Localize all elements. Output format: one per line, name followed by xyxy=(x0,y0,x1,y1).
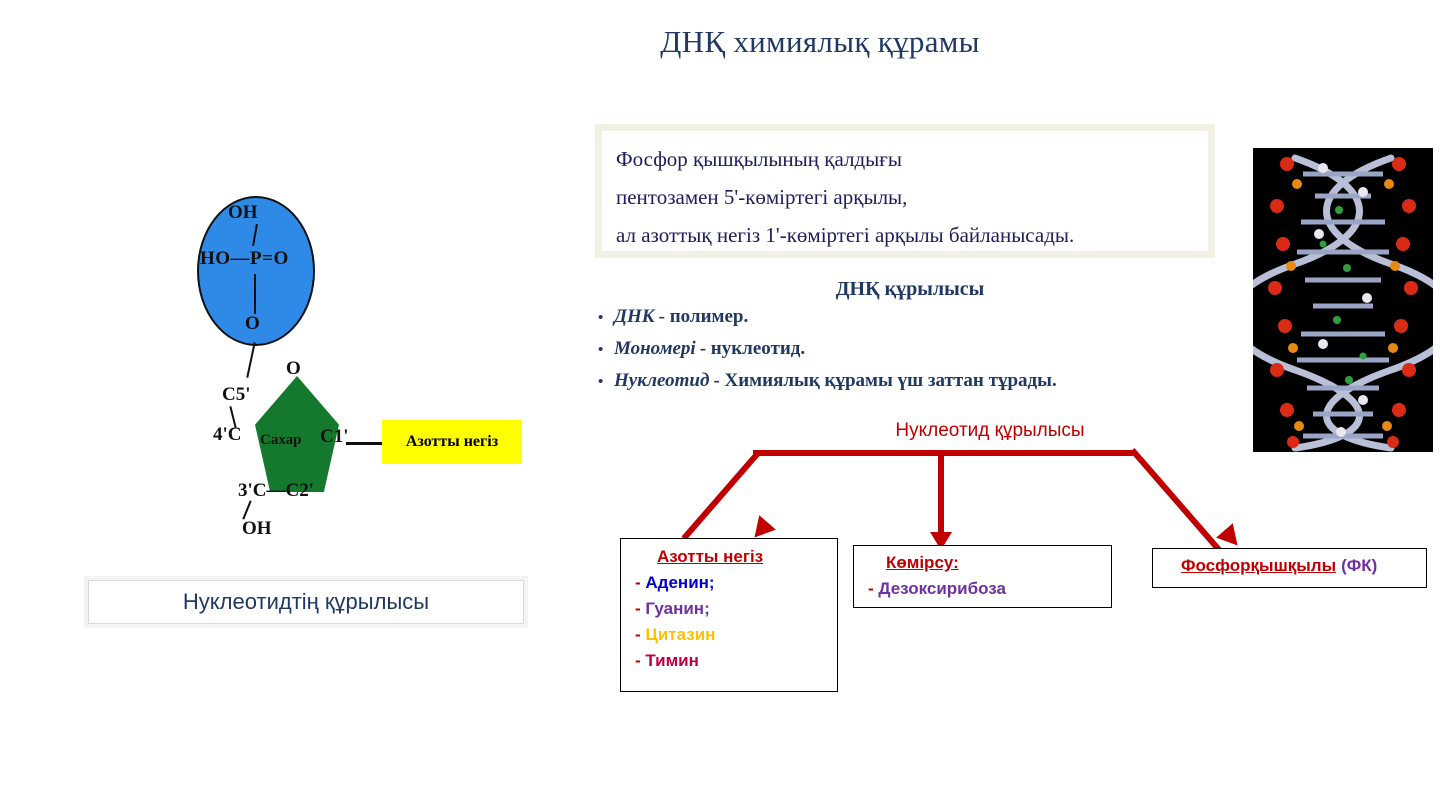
label-c1: C1' xyxy=(320,426,349,448)
item-label: Дезоксирибоза xyxy=(878,579,1006,598)
bond-c3-hydroxyl xyxy=(242,500,251,519)
phosphate-info-box: Фосфор қышқылының қалдығы пентозамен 5'-… xyxy=(595,124,1215,258)
bullet-dot-icon: • xyxy=(598,374,614,391)
item-marker: - xyxy=(635,599,641,618)
item-marker: - xyxy=(635,651,641,670)
list-item: - Цитазин xyxy=(635,622,837,648)
box-heading: Көмірсу: xyxy=(886,553,959,573)
label-c3-c2: 3'C—C2' xyxy=(238,480,314,502)
arrow-arm-middle xyxy=(938,452,944,540)
nucleotide-structure-arrow-tree: Нуклеотид құрылысы xyxy=(600,420,1440,550)
bullet-text: - нуклеотид. xyxy=(700,338,805,360)
item-label: Цитазин xyxy=(645,625,715,644)
nucleotide-caption: Нуклеотидтің құрылысы xyxy=(88,580,524,624)
bullet-dot-icon: • xyxy=(598,310,614,327)
slide-canvas: ДНҚ химиялық құрамы OH HO—P=O O O C5' 4'… xyxy=(0,0,1440,810)
item-marker: - xyxy=(635,573,641,592)
list-item: - Аденин; xyxy=(635,570,837,596)
item-label: Гуанин; xyxy=(645,599,709,618)
bullet-term: ДНК xyxy=(614,306,655,328)
page-title: ДНҚ химиялық құрамы xyxy=(520,24,1120,60)
list-item: - Тимин xyxy=(635,648,837,674)
arrow-tree-label: Нуклеотид құрылысы xyxy=(780,420,1200,442)
box-heading-suffix: (ФК) xyxy=(1341,556,1377,575)
bullet-term: Нуклеотид xyxy=(614,370,709,392)
dna-helix-image xyxy=(1253,148,1433,452)
item-label: Тимин xyxy=(645,651,698,670)
info-line-2: пентозамен 5'-көміртегі арқылы, xyxy=(616,178,1208,216)
list-item: - Гуанин; xyxy=(635,596,837,622)
info-line-1: Фосфор қышқылының қалдығы xyxy=(616,140,1208,178)
list-item: • ДНК - полимер. xyxy=(598,306,1238,338)
bullet-text: - Химиялық құрамы үш заттан тұрады. xyxy=(713,370,1056,392)
nucleotide-diagram: OH HO—P=O O O C5' 4'C Сахар C1' 3'C—C2' … xyxy=(150,180,550,560)
dna-helix-icon xyxy=(1253,148,1433,452)
box-heading: Фосфорқышқылы xyxy=(1181,556,1336,576)
label-c4: 4'C xyxy=(213,424,242,446)
bullet-dot-icon: • xyxy=(598,342,614,359)
label-o-ring: O xyxy=(286,358,301,380)
box-heading: Азотты негіз xyxy=(657,547,763,567)
structure-bullet-list: • ДНК - полимер. • Мономері - нуклеотид.… xyxy=(598,306,1238,402)
list-item: - Дезоксирибоза xyxy=(868,576,1111,602)
label-ho-p-o: HO—P=O xyxy=(200,248,289,270)
label-sugar: Сахар xyxy=(260,432,301,449)
component-box-phosphoric-acid: Фосфорқышқылы(ФК) xyxy=(1152,548,1427,588)
dna-structure-heading: ДНҚ құрылысы xyxy=(700,278,1120,301)
item-marker: - xyxy=(868,579,874,598)
list-item: • Мономері - нуклеотид. xyxy=(598,338,1238,370)
label-c5: C5' xyxy=(222,384,251,406)
bullet-text: - полимер. xyxy=(659,306,749,328)
info-line-3: ал азоттық негіз 1'-көміртегі арқылы бай… xyxy=(616,216,1208,254)
list-item: • Нуклеотид - Химиялық құрамы үш заттан … xyxy=(598,370,1238,402)
item-label: Аденин; xyxy=(645,573,714,592)
label-oh-bottom: OH xyxy=(242,518,272,540)
bullet-term: Мономері xyxy=(614,338,696,360)
nitrogen-base-tag: Азотты негіз xyxy=(382,420,522,464)
component-box-nitrogen-base: Азотты негіз - Аденин; - Гуанин; - Цитаз… xyxy=(620,538,838,692)
bond-phosphorus-oxygen xyxy=(254,274,256,314)
item-marker: - xyxy=(635,625,641,644)
bond-oxygen-c5 xyxy=(246,342,255,378)
label-o-bottom: O xyxy=(245,313,260,335)
component-box-carbohydrate: Көмірсу: - Дезоксирибоза xyxy=(853,545,1112,608)
label-oh-top: OH xyxy=(228,202,258,224)
